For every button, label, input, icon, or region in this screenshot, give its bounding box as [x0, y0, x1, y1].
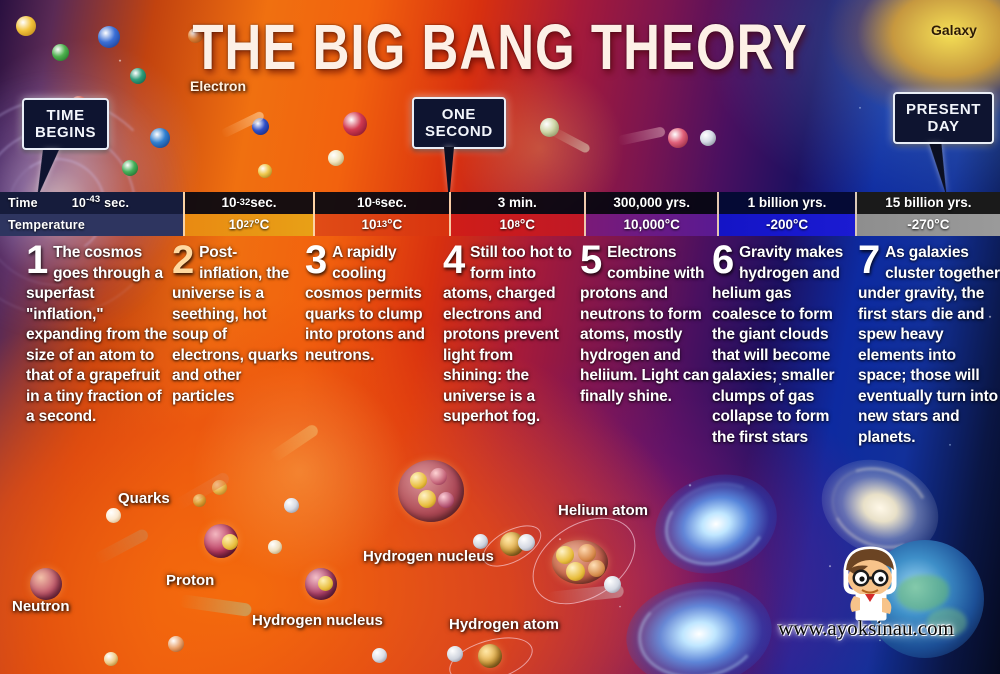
callout-line-1: TIME: [35, 107, 96, 124]
step-block-5: 5 Electrons combine with protons and neu…: [580, 243, 712, 407]
particle-sprite: [284, 498, 299, 513]
label-proton: Proton: [166, 572, 214, 589]
step-number: 2: [172, 243, 194, 277]
callout-line-2: BEGINS: [35, 124, 96, 141]
quark-sprite: [222, 534, 238, 550]
step-number: 4: [443, 243, 465, 277]
timeline-temp-cell: 1013°C: [315, 214, 448, 236]
particle-sprite: [668, 128, 688, 148]
timeline-temp-cell: 1027°C: [185, 214, 313, 236]
timeline-column-5: 300,000 yrs. 10,000°C: [586, 192, 719, 236]
hydrogen-nucleus-sprite: [478, 644, 502, 668]
quark-sprite: [588, 560, 605, 577]
timeline-time-cell: Time 10-43 sec.: [0, 192, 183, 214]
timeline-time-cell: 15 billion yrs.: [857, 192, 1000, 214]
particle-sprite: [258, 164, 272, 178]
label-electron: Electron: [190, 78, 246, 94]
particle-sprite: [372, 648, 387, 663]
electron-sprite: [473, 534, 488, 549]
watermark-url: www.ayoksinau.com: [778, 616, 954, 641]
timeline-time-cell: 3 min.: [451, 192, 584, 214]
page-title: THE BIG BANG THEORY: [0, 10, 1000, 84]
timeline-temp-cell: 108°C: [451, 214, 584, 236]
particle-sprite: [104, 652, 118, 666]
particle-sprite: [328, 150, 344, 166]
label-hydrogen-nucleus-1: Hydrogen nucleus: [363, 548, 494, 565]
step-block-7: 7 As galaxies cluster together under gra…: [858, 243, 1000, 448]
quark-sprite: [106, 508, 121, 523]
step-number: 1: [26, 243, 48, 277]
timeline-scale: Time 10-43 sec. Temperature 10-32 sec. 1…: [0, 192, 1000, 236]
timeline-time-cell: 10-32 sec.: [185, 192, 313, 214]
big-bang-infographic: THE BIG BANG THEORY TIME BEGINS ONE SECO…: [0, 0, 1000, 674]
electron-sprite: [447, 646, 463, 662]
callout-line-2: SECOND: [425, 123, 493, 140]
quark-sprite: [430, 468, 447, 485]
timeline-column-3: 10-6 sec. 1013°C: [315, 192, 450, 236]
electron-sprite: [518, 534, 535, 551]
particle-sprite: [168, 636, 184, 652]
timeline-temp-cell: Temperature: [0, 214, 183, 236]
step-block-6: 6 Gravity makes hydrogen and helium gas …: [712, 243, 854, 448]
quark-sprite: [268, 540, 282, 554]
electron-sprite: [604, 576, 621, 593]
timeline-row-label-temperature: Temperature: [8, 214, 85, 236]
callout-present-day: PRESENT DAY: [893, 92, 994, 144]
step-blocks: 1 The cosmos goes through a superfast "i…: [0, 243, 1000, 483]
label-galaxy: Galaxy: [931, 22, 977, 38]
callout-line-1: PRESENT: [906, 101, 981, 118]
particle-sprite: [150, 128, 170, 148]
boy-with-glasses-icon: [832, 540, 908, 624]
callout-one-second: ONE SECOND: [412, 97, 506, 149]
timeline-time-cell: 300,000 yrs.: [586, 192, 717, 214]
timeline-column-4: 3 min. 108°C: [451, 192, 586, 236]
quark-sprite: [566, 562, 585, 581]
step-block-4: 4 Still too hot to form into atoms, char…: [443, 243, 575, 428]
callout-line-2: DAY: [906, 118, 981, 135]
step-number: 3: [305, 243, 327, 277]
particle-sprite: [700, 130, 716, 146]
timeline-temp-cell: 10,000°C: [586, 214, 717, 236]
neutron-sprite: [30, 568, 62, 600]
timeline-column-6: 1 billion yrs. -200°C: [719, 192, 856, 236]
timeline-temp-cell: -270°C: [857, 214, 1000, 236]
watermark: www.ayoksinau.com: [778, 540, 958, 650]
particle-sprite: [343, 112, 367, 136]
step-number: 7: [858, 243, 880, 277]
step-block-1: 1 The cosmos goes through a superfast "i…: [26, 243, 172, 428]
timeline-column-7: 15 billion yrs. -270°C: [857, 192, 1000, 236]
label-hydrogen-nucleus-2: Hydrogen nucleus: [252, 612, 383, 629]
callout-line-1: ONE: [425, 106, 493, 123]
callout-time-begins: TIME BEGINS: [22, 98, 109, 150]
label-neutron: Neutron: [12, 598, 70, 615]
step-number: 5: [580, 243, 602, 277]
quark-sprite: [418, 490, 436, 508]
label-hydrogen-atom: Hydrogen atom: [449, 616, 559, 633]
label-helium-atom: Helium atom: [558, 502, 648, 519]
timeline-column-1: Time 10-43 sec. Temperature: [0, 192, 185, 236]
step-block-2: 2 Post-inflation, the universe is a seet…: [172, 243, 300, 407]
step-block-3: 3 A rapidly cooling cosmos permits quark…: [305, 243, 435, 366]
quark-sprite: [438, 492, 454, 508]
label-quarks: Quarks: [118, 490, 170, 507]
timeline-time-cell: 1 billion yrs.: [719, 192, 854, 214]
quark-sprite: [410, 472, 427, 489]
step-number: 6: [712, 243, 734, 277]
quark-sprite: [318, 576, 333, 591]
timeline-time-cell: 10-6 sec.: [315, 192, 448, 214]
timeline-temp-cell: -200°C: [719, 214, 854, 236]
timeline-column-2: 10-32 sec. 1027°C: [185, 192, 315, 236]
timeline-row-label-time: Time: [8, 192, 38, 214]
particle-sprite: [122, 160, 138, 176]
quark-sprite: [556, 546, 574, 564]
